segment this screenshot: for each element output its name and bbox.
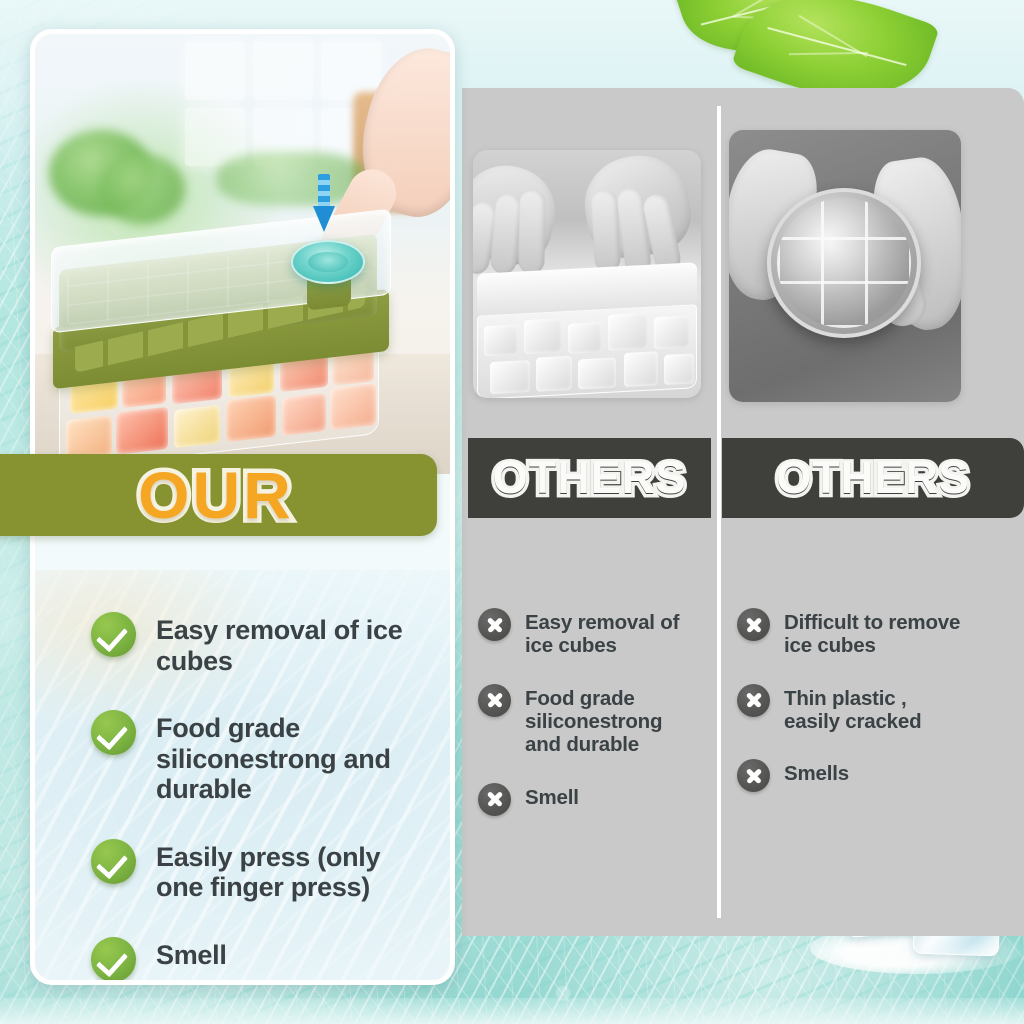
arrow-shaft: [318, 174, 330, 208]
others-middle-feature-list: Easy removal of ice cubes Food grade sil…: [462, 608, 717, 842]
list-item: Smell: [478, 783, 703, 816]
ice-cube-grid: [777, 198, 911, 328]
x-icon: [478, 608, 511, 641]
others-middle-banner-label-fill: OTHERS: [493, 452, 687, 504]
finger-shape: [518, 190, 545, 274]
clear-ice-container: [477, 304, 697, 398]
others-right-photo: [729, 130, 961, 402]
others-right-feature-list: Difficult to remove ice cubes Thin plast…: [721, 608, 976, 818]
list-item: Smell: [91, 937, 424, 982]
others-middle-photo: [473, 150, 701, 398]
x-icon: [478, 684, 511, 717]
list-item: Easy removal of ice cubes: [91, 612, 424, 676]
ice-cube-tray: [45, 212, 405, 442]
feature-text: Smell: [156, 937, 227, 971]
check-icon: [91, 937, 136, 982]
list-item: Thin plastic , easily cracked: [737, 684, 962, 734]
x-icon: [737, 759, 770, 792]
our-product-photo: [35, 34, 450, 474]
check-icon: [91, 612, 136, 657]
press-button[interactable]: [291, 240, 365, 284]
our-banner-label: OUR: [138, 462, 294, 528]
list-item: Smells: [737, 759, 962, 792]
list-item: Easily press (only one finger press): [91, 839, 424, 903]
column-divider: [717, 106, 721, 918]
our-feature-list: Easy removal of ice cubes Food grade sil…: [35, 570, 450, 980]
feature-text: Easily press (only one finger press): [156, 839, 424, 903]
list-item: Easy removal of ice cubes: [478, 608, 703, 658]
feature-text: Food grade siliconestrong and durable: [525, 684, 703, 757]
arrow-head: [313, 206, 335, 232]
x-icon: [737, 684, 770, 717]
check-icon: [91, 839, 136, 884]
others-right-banner: OTHERS OTHERS: [722, 438, 1024, 518]
feature-text: Food grade siliconestrong and durable: [156, 710, 424, 805]
check-icon: [91, 710, 136, 755]
feature-text: Difficult to remove ice cubes: [784, 608, 962, 658]
x-icon: [478, 783, 511, 816]
feature-text: Thin plastic , easily cracked: [784, 684, 962, 734]
list-item: Food grade siliconestrong and durable: [91, 710, 424, 805]
feature-text: Smell: [525, 783, 579, 809]
list-item: Food grade siliconestrong and durable: [478, 684, 703, 757]
others-middle-banner: OTHERS OTHERS: [468, 438, 711, 518]
leaf-vein: [767, 27, 907, 66]
round-ice-tray: [767, 188, 921, 338]
list-item: Difficult to remove ice cubes: [737, 608, 962, 658]
feature-text: Smells: [784, 759, 849, 785]
x-icon: [737, 608, 770, 641]
background-bottom-strip: [0, 998, 1024, 1024]
our-banner: OUR: [0, 454, 437, 536]
feature-text: Easy removal of ice cubes: [525, 608, 703, 658]
others-right-banner-label-fill: OTHERS: [776, 452, 970, 504]
press-direction-arrow-icon: [313, 174, 335, 236]
feature-text: Easy removal of ice cubes: [156, 612, 424, 676]
